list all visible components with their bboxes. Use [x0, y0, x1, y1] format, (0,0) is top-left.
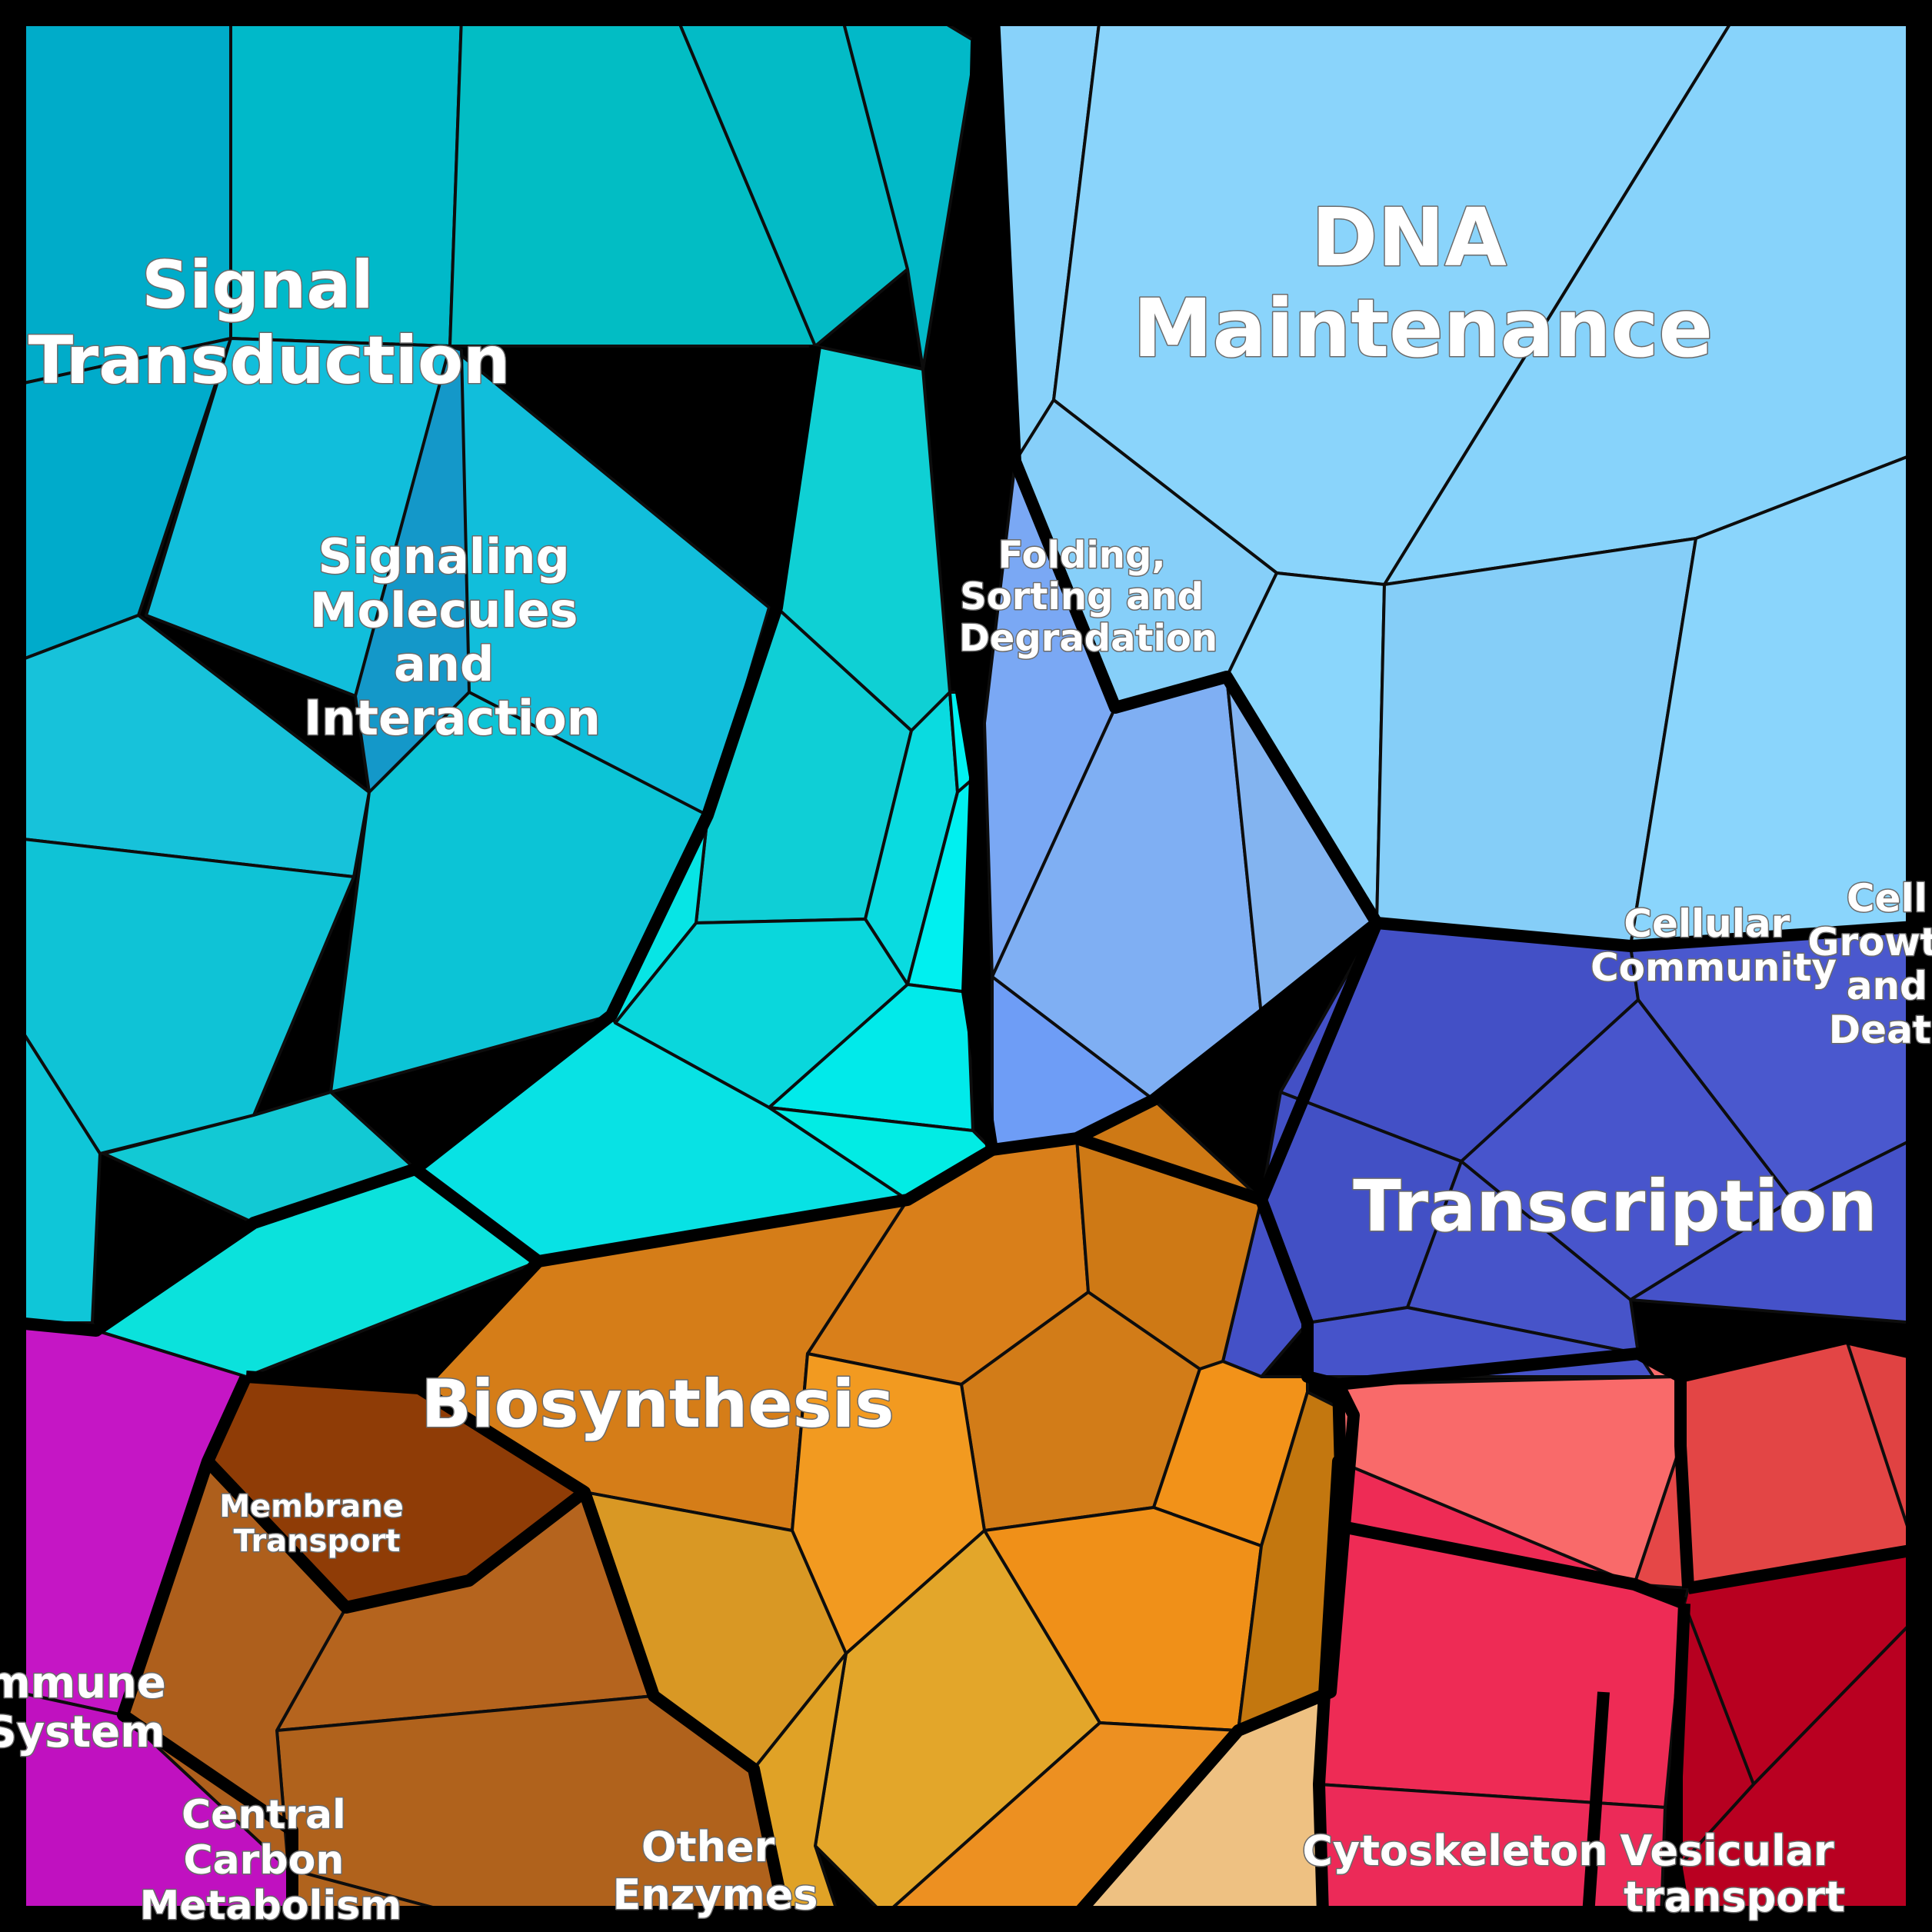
label-cellular-community: Cellular Community [1591, 901, 1837, 990]
label-transcription: Transcription [1353, 1165, 1877, 1247]
voronoi-treemap-canvas: Signal Transduction Signaling Molecules … [0, 0, 1932, 1932]
label-vesicular-transport: Vesicular transport [1621, 1827, 1849, 1921]
label-immune-system: Immune System [0, 1658, 181, 1757]
label-other-enzymes: Other Enzymes [613, 1823, 818, 1919]
label-membrane-transport: Membrane Transport [219, 1489, 415, 1559]
label-biosynthesis: Biosynthesis [421, 1366, 894, 1443]
label-signaling-molecules: Signaling Molecules and Interaction [304, 528, 601, 746]
voronoi-treemap-figure: Signal Transduction Signaling Molecules … [0, 0, 1932, 1932]
label-cytoskeleton: Cytoskeleton [1302, 1827, 1607, 1875]
